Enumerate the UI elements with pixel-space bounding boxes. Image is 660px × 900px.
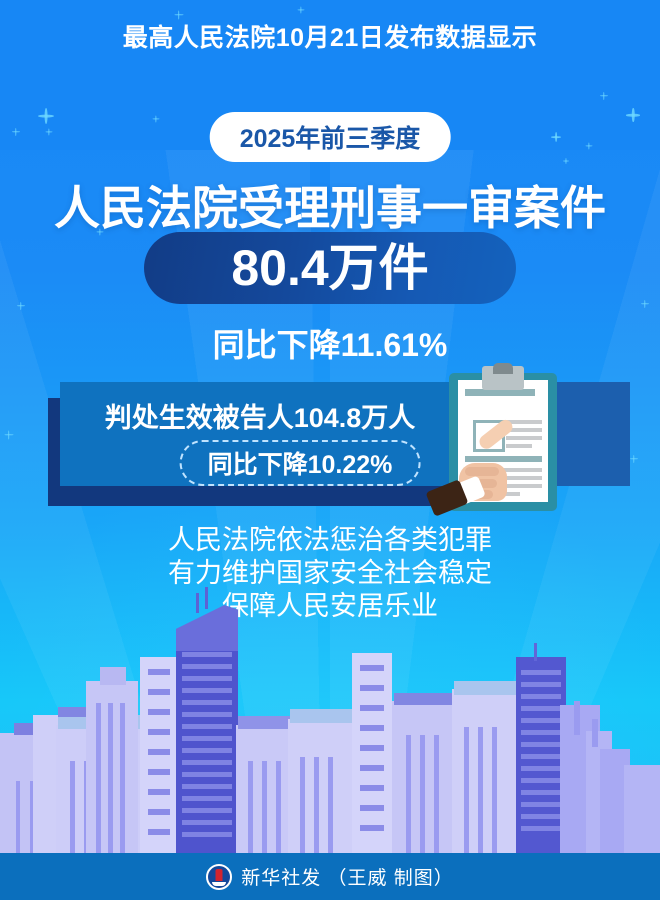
source-header: 最高人民法院10月21日发布数据显示 [0, 18, 660, 54]
footer-credit: 新华社发 （王威 制图） [241, 863, 454, 890]
city-skyline-illustration [0, 583, 660, 853]
description-line-1: 人民法院依法惩治各类犯罪 [0, 524, 660, 557]
clipboard-clip-top [493, 363, 513, 374]
infographic-poster: 最高人民法院10月21日发布数据显示 2025年前三季度 人民法院受理刑事一审案… [0, 0, 660, 900]
period-badge: 2025年前三季度 [210, 112, 451, 162]
main-stat-change: 同比下降11.61% [0, 320, 660, 366]
xinhua-logo-icon [206, 864, 232, 890]
secondary-stat-change: 同比下降10.22% [208, 451, 393, 479]
page-title: 人民法院受理刑事一审案件 [0, 172, 660, 238]
main-stat-pill: 80.4万件 [144, 232, 516, 304]
secondary-stat-title: 判处生效被告人104.8万人 [60, 396, 460, 435]
footer-bar: 新华社发 （王威 制图） [0, 853, 660, 900]
pointing-hand-icon [455, 437, 527, 513]
secondary-stat-change-badge: 同比下降10.22% [180, 440, 421, 486]
clipboard-with-hand-icon [449, 363, 557, 511]
main-stat-value: 80.4万件 [231, 243, 428, 293]
